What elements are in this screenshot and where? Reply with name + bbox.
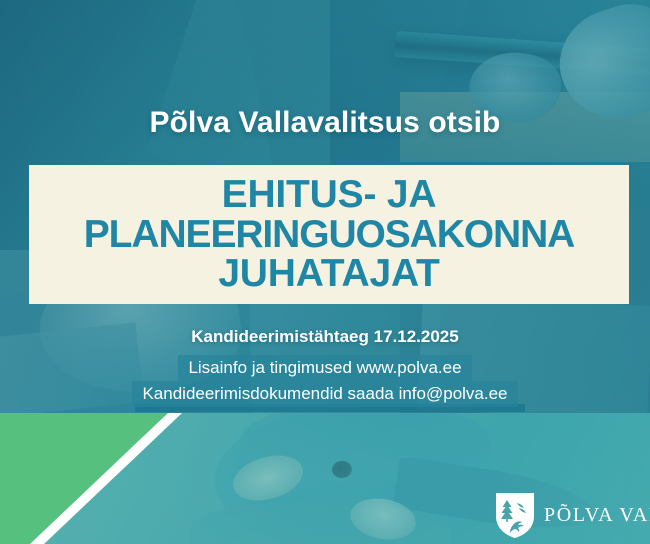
polva-vald-coat-of-arms-shield-icon (495, 492, 535, 539)
job-advert-poster: Põlva Vallavalitsus otsib EHITUS- JA PLA… (0, 0, 650, 544)
polva-vald-logo: PÕLVA VALD (495, 492, 650, 539)
contact-info-block: Lisainfo ja tingimused www.polva.ee Kand… (0, 355, 650, 407)
headline-line-1: EHITUS- JA (84, 175, 574, 215)
headline-banner: EHITUS- JA PLANEERINGUOSAKONNA JUHATAJAT (29, 165, 629, 304)
logo-wordmark: PÕLVA VALD (544, 504, 650, 527)
contact-info-row-1: Lisainfo ja tingimused www.polva.ee (0, 355, 650, 381)
contact-info-row-2: Kandideerimisdokumendid saada info@polva… (0, 381, 650, 407)
info-line-website[interactable]: Lisainfo ja tingimused www.polva.ee (178, 355, 471, 381)
kicker-text: Põlva Vallavalitsus otsib (0, 106, 650, 140)
headline-line-3: JUHATAJAT (84, 254, 574, 294)
headline-line-2: PLANEERINGUOSAKONNA (84, 215, 574, 255)
headline-text: EHITUS- JA PLANEERINGUOSAKONNA JUHATAJAT (78, 175, 580, 294)
application-deadline: Kandideerimistähtaeg 17.12.2025 (0, 327, 650, 347)
info-line-email[interactable]: Kandideerimisdokumendid saada info@polva… (132, 381, 517, 407)
